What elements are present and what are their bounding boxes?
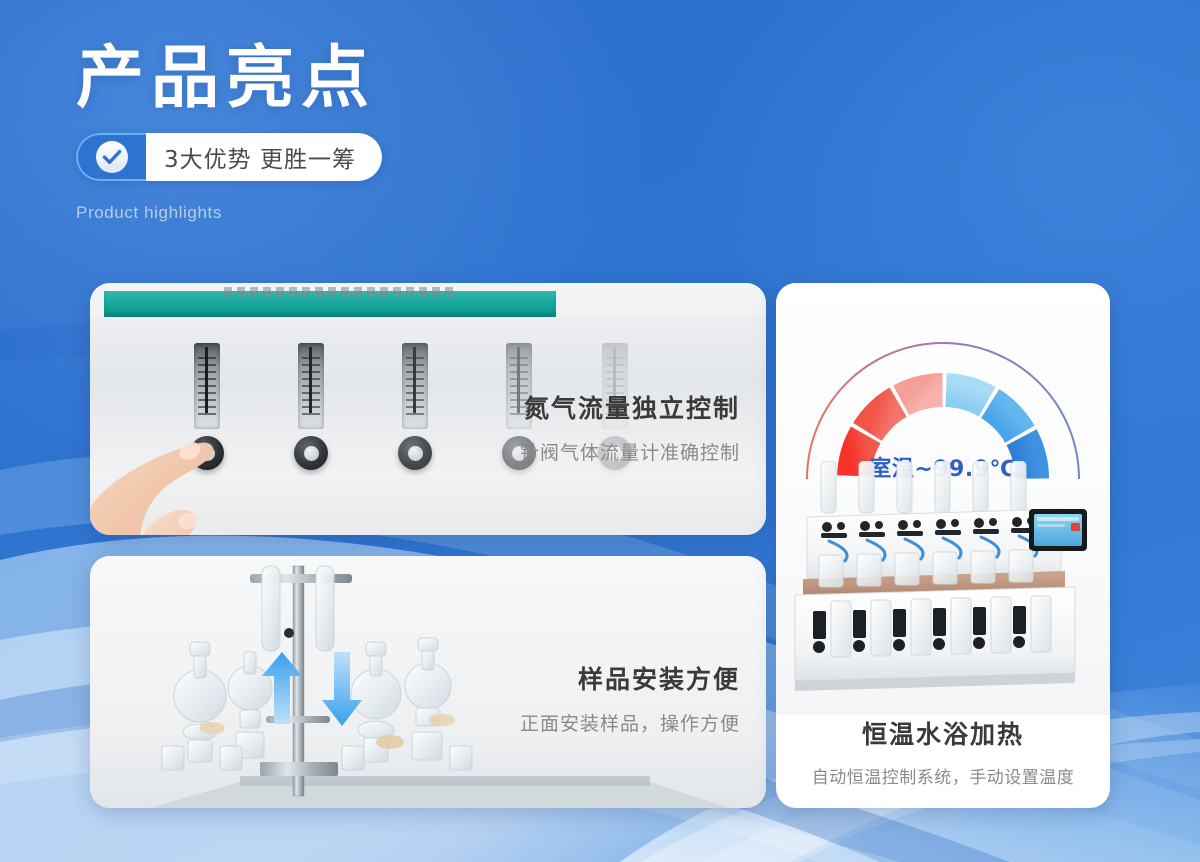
flow-meter-3 — [402, 343, 428, 470]
card-water-bath-heating-text: 恒温水浴加热 自动恒温控制系统，手动设置温度 — [776, 715, 1110, 808]
hand-illustration — [90, 381, 286, 535]
page-title: 产品亮点 — [76, 42, 382, 115]
card-sample-install[interactable]: 样品安装方便 正面安装样品，操作方便 — [90, 556, 766, 808]
advantage-badge-label: 3大优势 更胜一筹 — [146, 133, 382, 181]
advantage-badge: 3大优势 更胜一筹 — [76, 133, 382, 181]
flow-meter-2 — [298, 343, 324, 470]
card-sample-install-title: 样品安装方便 — [520, 660, 740, 696]
card-sample-install-text: 样品安装方便 正面安装样品，操作方便 — [520, 660, 740, 736]
page-subtitle: Product highlights — [76, 203, 382, 223]
highlight-cards: 氮气流量独立控制 针阀气体流量计准确控制 — [90, 283, 1110, 808]
instrument-illustration — [785, 461, 1101, 711]
card-nitrogen-flow-text: 氮气流量独立控制 针阀气体流量计准确控制 — [520, 389, 740, 465]
card-nitrogen-flow-subtitle: 针阀气体流量计准确控制 — [520, 438, 740, 465]
touchscreen-display — [1029, 509, 1087, 551]
card-nitrogen-flow-title: 氮气流量独立控制 — [520, 389, 740, 425]
page-header: 产品亮点 3大优势 更胜一筹 Product highlights — [76, 42, 382, 223]
card-nitrogen-flow[interactable]: 氮气流量独立控制 针阀气体流量计准确控制 — [90, 283, 766, 535]
instrument-header-strip — [104, 291, 556, 317]
check-circle-icon — [76, 133, 146, 181]
card-water-bath-heating-title: 恒温水浴加热 — [786, 715, 1100, 751]
card-water-bath-heating-image: 室温~99.9℃ — [776, 283, 1110, 715]
card-sample-install-subtitle: 正面安装样品，操作方便 — [520, 709, 740, 736]
cards-left-column: 氮气流量独立控制 针阀气体流量计准确控制 — [90, 283, 766, 808]
card-water-bath-heating-subtitle: 自动恒温控制系统，手动设置温度 — [786, 763, 1100, 788]
card-water-bath-heating[interactable]: 室温~99.9℃ — [776, 283, 1110, 808]
cards-right-column: 室温~99.9℃ — [776, 283, 1110, 808]
